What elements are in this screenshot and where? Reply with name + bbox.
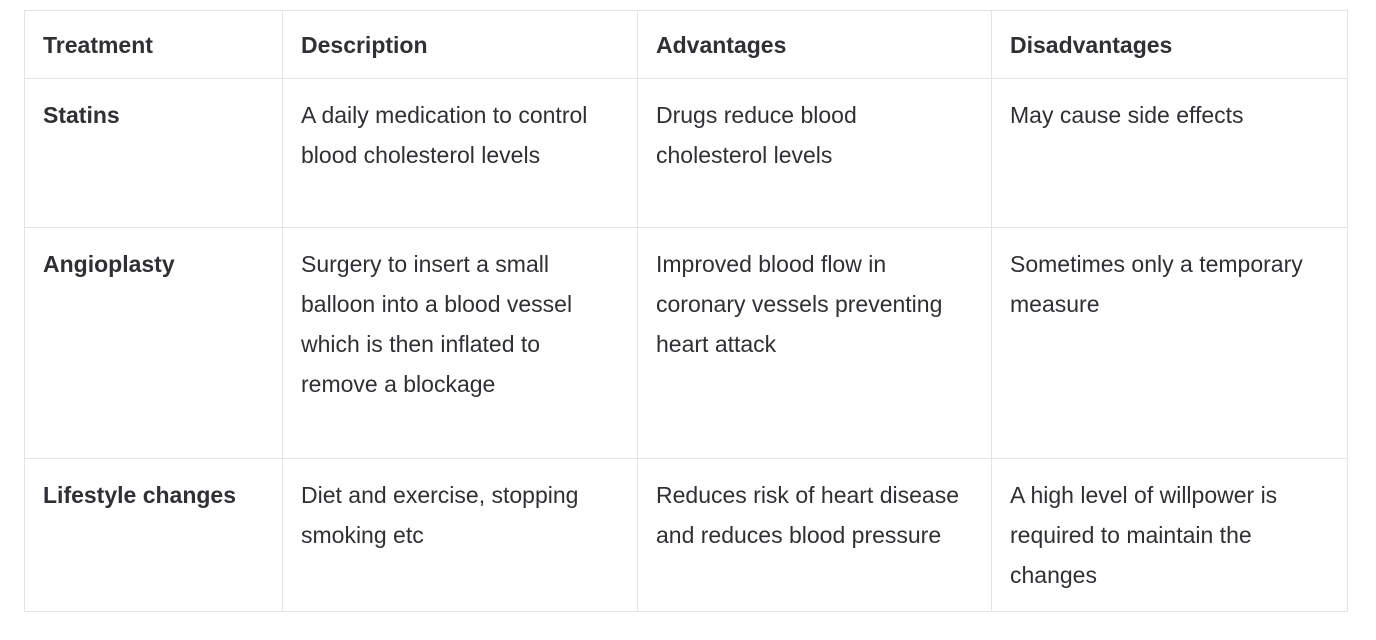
cell-treatment: Lifestyle changes xyxy=(25,459,283,612)
table-header-row: Treatment Description Advantages Disadva… xyxy=(25,11,1348,79)
table-row: Lifestyle changes Diet and exercise, sto… xyxy=(25,459,1348,612)
column-header-disadvantages: Disadvantages xyxy=(992,11,1348,79)
cell-treatment: Angioplasty xyxy=(25,228,283,459)
cell-advantages: Improved blood flow in coronary vessels … xyxy=(638,228,992,459)
column-header-treatment: Treatment xyxy=(25,11,283,79)
column-header-description: Description xyxy=(283,11,638,79)
treatment-comparison-table: Treatment Description Advantages Disadva… xyxy=(24,10,1348,612)
cell-disadvantages: Sometimes only a temporary measure xyxy=(992,228,1348,459)
cell-advantages: Reduces risk of heart disease and reduce… xyxy=(638,459,992,612)
table-row: Angioplasty Surgery to insert a small ba… xyxy=(25,228,1348,459)
cell-disadvantages: May cause side effects xyxy=(992,79,1348,228)
column-header-advantages: Advantages xyxy=(638,11,992,79)
table-header: Treatment Description Advantages Disadva… xyxy=(25,11,1348,79)
cell-description: Diet and exercise, stopping smoking etc xyxy=(283,459,638,612)
table-row: Statins A daily medication to control bl… xyxy=(25,79,1348,228)
cell-disadvantages: A high level of willpower is required to… xyxy=(992,459,1348,612)
table-body: Statins A daily medication to control bl… xyxy=(25,79,1348,612)
cell-description: A daily medication to control blood chol… xyxy=(283,79,638,228)
cell-advantages: Drugs reduce blood cholesterol levels xyxy=(638,79,992,228)
treatment-comparison-table-container: Treatment Description Advantages Disadva… xyxy=(24,10,1347,612)
cell-treatment: Statins xyxy=(25,79,283,228)
cell-description: Surgery to insert a small balloon into a… xyxy=(283,228,638,459)
page-root: Treatment Description Advantages Disadva… xyxy=(0,0,1376,640)
